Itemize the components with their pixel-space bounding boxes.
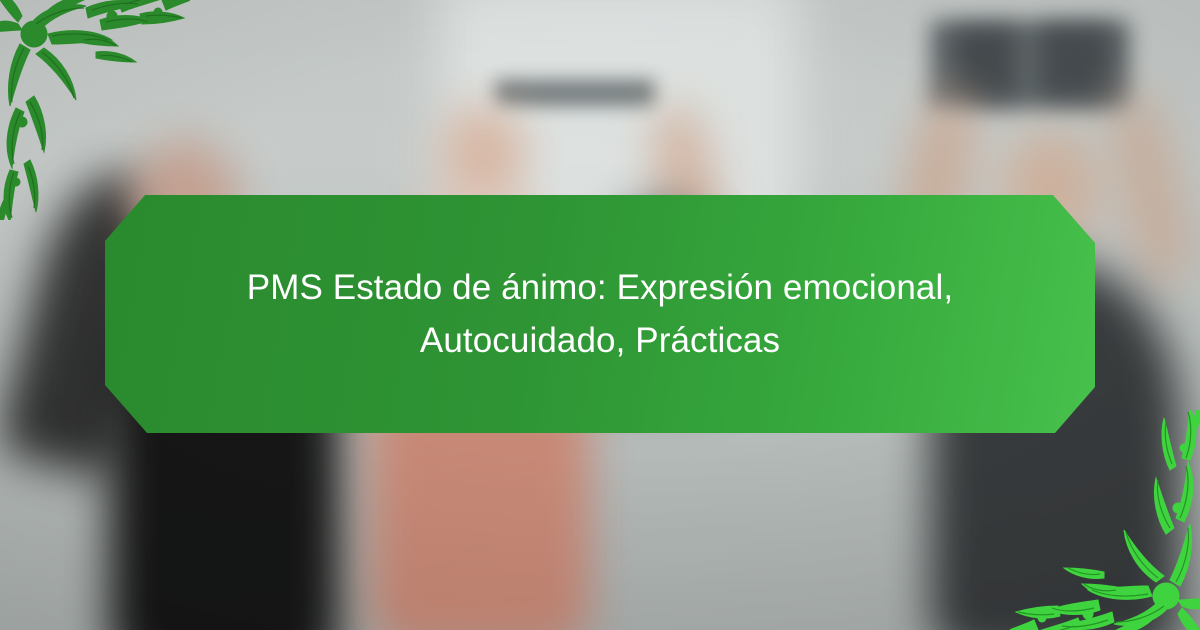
og-image-canvas: PMS Estado de ánimo: Expresión emocional… [0,0,1200,630]
page-title: PMS Estado de ánimo: Expresión emocional… [105,261,1095,367]
title-banner: PMS Estado de ánimo: Expresión emocional… [105,195,1095,433]
